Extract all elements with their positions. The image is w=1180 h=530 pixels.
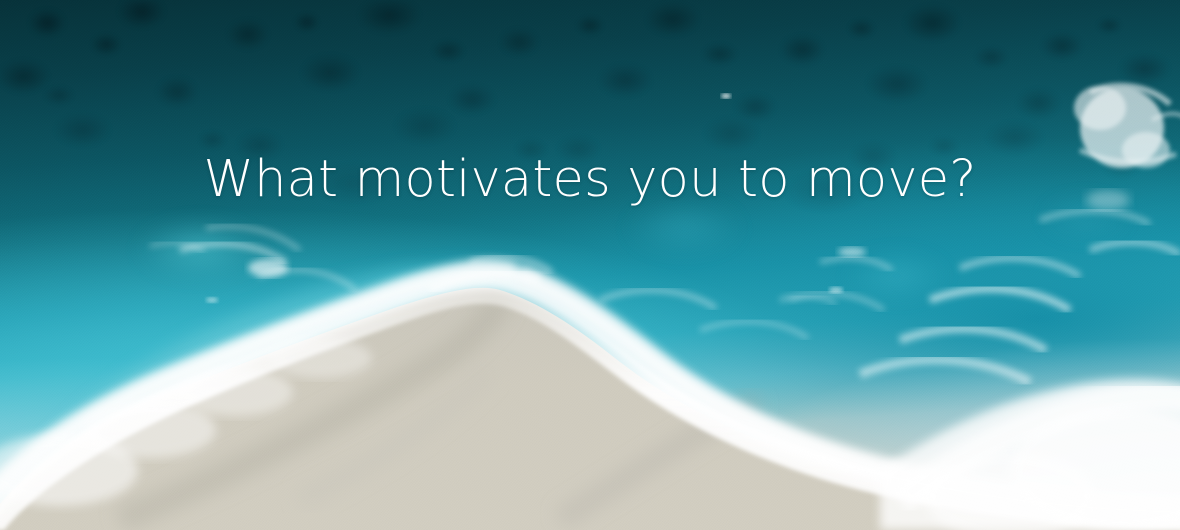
ocean-hero-banner: What motivates you to move? [0, 0, 1180, 530]
wave-foam-layer [0, 0, 1180, 530]
banner-headline: What motivates you to move? [0, 152, 1180, 208]
